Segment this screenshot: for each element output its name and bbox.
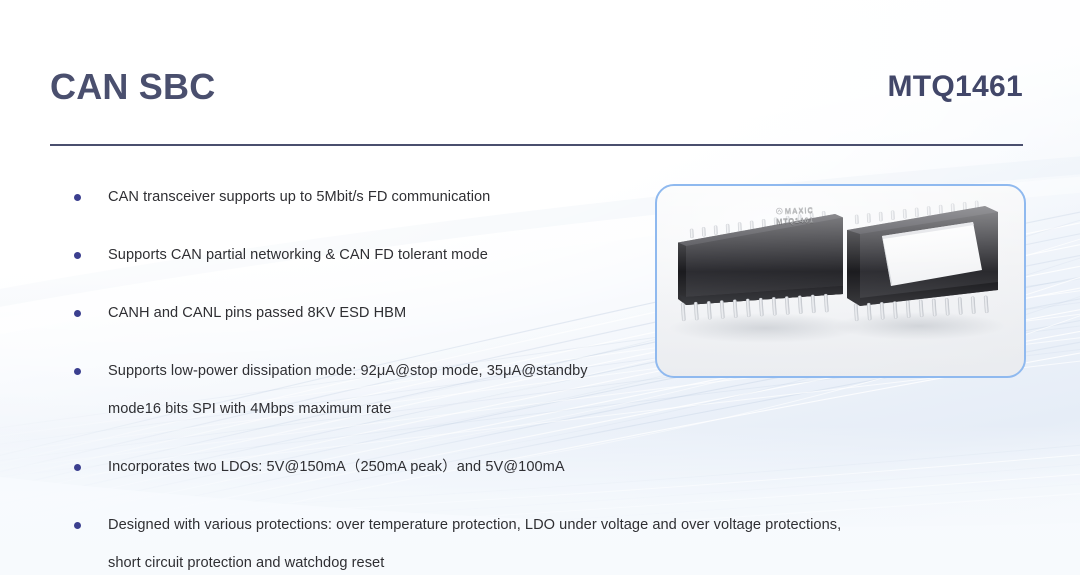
bullet-icon <box>74 194 81 201</box>
ic-package-top-view <box>678 211 843 321</box>
slide-header: CAN SBC MTQ1461 <box>50 66 1023 128</box>
bullet-icon <box>74 464 81 471</box>
product-photo: MAXIC MTQ1461 <box>657 186 1024 376</box>
feature-text: Incorporates two LDOs: 5V@150mA（250mA pe… <box>108 448 940 486</box>
product-image-panel: MAXIC MTQ1461 <box>655 184 1026 378</box>
bullet-icon <box>74 252 81 259</box>
header-divider <box>50 144 1023 146</box>
feature-text-continued: mode16 bits SPI with 4Mbps maximum rate <box>108 390 940 428</box>
ic-package-bottom-view <box>847 201 998 321</box>
bullet-icon <box>74 368 81 375</box>
feature-text-continued: short circuit protection and watchdog re… <box>108 544 940 575</box>
bullet-icon <box>74 310 81 317</box>
list-item: Designed with various protections: over … <box>60 506 940 575</box>
part-number: MTQ1461 <box>888 70 1024 105</box>
feature-text: Designed with various protections: over … <box>108 506 940 544</box>
product-slide: CAN SBC MTQ1461 CAN transceiver supports… <box>0 0 1080 575</box>
list-item: Incorporates two LDOs: 5V@150mA（250mA pe… <box>60 448 940 486</box>
ic-packages-illustration <box>657 186 1024 376</box>
page-title: CAN SBC <box>50 66 215 107</box>
bullet-icon <box>74 522 81 529</box>
